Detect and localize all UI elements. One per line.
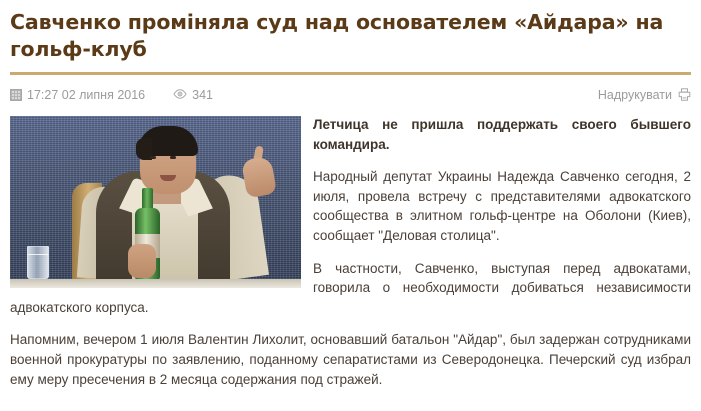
article-meta-bar: 17:27 02 липня 2016 341 Надрукувати bbox=[10, 85, 691, 105]
meta-left-group: 17:27 02 липня 2016 341 bbox=[10, 88, 213, 102]
photo-hand-on-bottle bbox=[128, 244, 156, 278]
article-photo bbox=[10, 116, 301, 288]
print-link[interactable]: Надрукувати bbox=[598, 88, 672, 102]
print-group[interactable]: Надрукувати bbox=[598, 85, 691, 105]
publish-date: 17:27 02 липня 2016 bbox=[27, 88, 145, 102]
photo-eye-right bbox=[170, 156, 176, 159]
photo-table bbox=[10, 279, 301, 288]
views-group: 341 bbox=[173, 88, 213, 102]
views-count: 341 bbox=[192, 88, 213, 102]
article-body: Летчица не пришла поддержать своего бывш… bbox=[10, 115, 691, 389]
calendar-icon bbox=[10, 89, 22, 101]
article-page: Савченко проміняла суд над основателем «… bbox=[0, 0, 701, 411]
page-title: Савченко проміняла суд над основателем «… bbox=[8, 0, 693, 63]
title-divider bbox=[10, 72, 691, 75]
photo-eye-left bbox=[150, 156, 156, 159]
publish-date-group: 17:27 02 липня 2016 bbox=[10, 88, 145, 102]
article-paragraph-3: Напомним, вечером 1 июля Валентин Лихоли… bbox=[10, 330, 691, 389]
eye-icon bbox=[173, 89, 187, 102]
printer-icon[interactable] bbox=[678, 88, 691, 104]
photo-water-glass bbox=[27, 246, 49, 279]
